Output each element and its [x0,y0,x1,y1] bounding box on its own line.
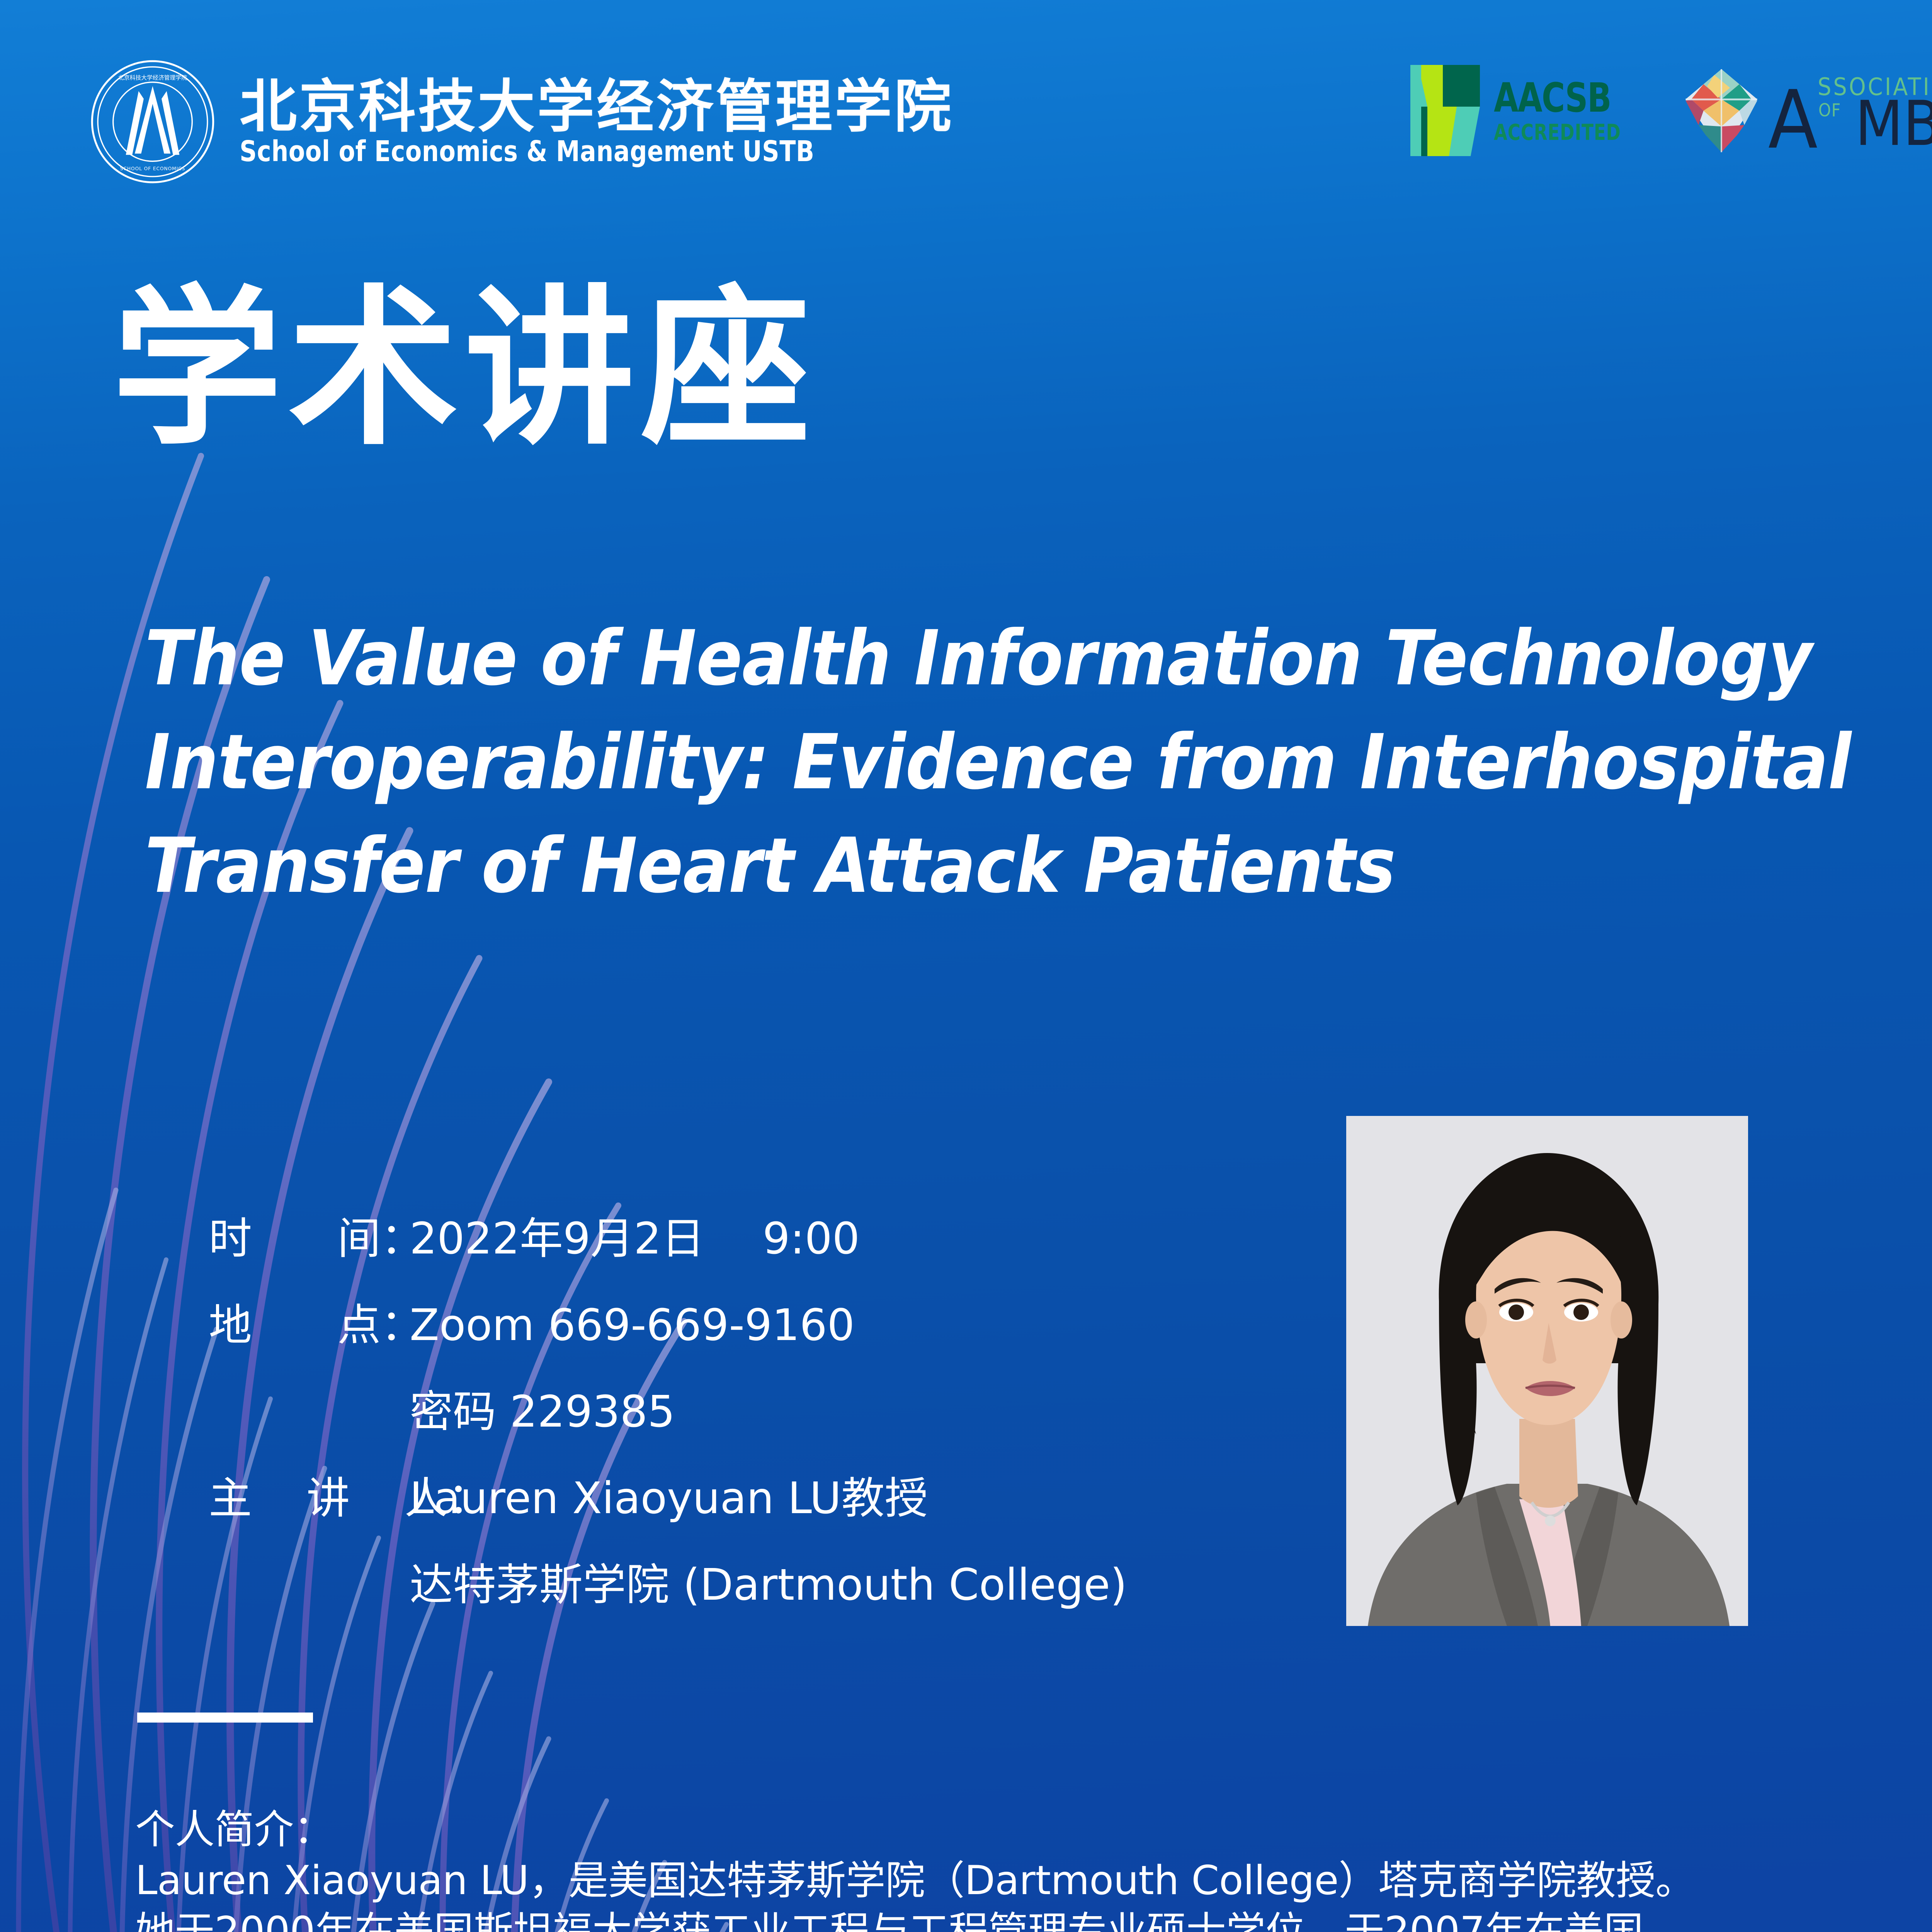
event-speaker-value: Lauren Xiaoyuan LU教授 [410,1477,928,1520]
section-divider [137,1713,313,1723]
bio-line: 她于2000年在美国斯坦福大学获工业工程与工程管理专业硕士学位，于2007年在美… [135,1906,1932,1932]
school-name-en: School of Economics & Management USTB [240,137,904,166]
event-affiliation-row: 达特茅斯学院 (Dartmouth College) [209,1563,1127,1607]
event-time-label-a: 时 [209,1214,252,1264]
amba-diamond-icon [1685,69,1758,152]
event-speaker-label-a: 主 [209,1473,252,1524]
speaker-portrait [1346,1116,1748,1626]
bio-line: Lauren Xiaoyuan LU，是美国达特茅斯学院（Dartmouth C… [135,1855,1932,1906]
amba-mba-text: MBA [1855,96,1932,151]
lecture-title-line-2: Interoperability: Evidence from Interhos… [145,711,1932,815]
event-place-value[interactable]: Zoom 669-669-9160 [410,1304,855,1347]
event-time-row: 时 间： 2022年9月2日 9:00 [209,1217,1127,1260]
event-place-row: 地 点： Zoom 669-669-9160 [209,1304,1127,1347]
amba-logo: A SSOCIATION OF MBA S [1685,69,1932,152]
event-passcode-value[interactable]: 密码 229385 [410,1390,675,1434]
aacsb-mark-icon [1410,65,1480,156]
event-time-value: 2022年9月2日 [410,1217,705,1260]
event-affiliation-value: 达特茅斯学院 (Dartmouth College) [410,1563,1127,1607]
event-speaker-row: 主 讲 人： Lauren Xiaoyuan LU教授 [209,1477,1127,1520]
lecture-title-line-1: The Value of Health Information Technolo… [145,607,1932,711]
page-title: 学术讲座 [112,284,817,454]
speaker-bio: 个人简介： Lauren Xiaoyuan LU，是美国达特茅斯学院（Dartm… [135,1804,1932,1932]
aacsb-label: AACSB [1494,78,1621,118]
event-time-clock: 9:00 [763,1217,860,1260]
event-place-label: 地 点： [209,1304,410,1347]
lecture-poster: 北京科技大学经济管理学院 SCHOOL OF ECONOMICS 北京科技大学经… [0,0,1932,1932]
lecture-title: The Value of Health Information Technolo… [145,607,1932,918]
ustb-seal-icon: 北京科技大学经济管理学院 SCHOOL OF ECONOMICS [89,58,216,185]
school-name-cn: 北京科技大学经济管理学院 [240,78,954,135]
amba-of-text: OF [1818,100,1841,121]
poster-header: 北京科技大学经济管理学院 SCHOOL OF ECONOMICS 北京科技大学经… [89,58,1932,197]
event-details: 时 间： 2022年9月2日 9:00 地 点： Zoom 669-669-91… [209,1217,1127,1607]
aacsb-accredited-label: ACCREDITED [1494,122,1621,144]
accreditation-logos: AACSB ACCREDITED [1410,65,1932,156]
school-logo-block: 北京科技大学经济管理学院 SCHOOL OF ECONOMICS 北京科技大学经… [89,58,954,185]
event-time-label: 时 间： [209,1217,410,1260]
svg-text:SCHOOL OF ECONOMICS: SCHOOL OF ECONOMICS [120,166,185,171]
svg-text:北京科技大学经济管理学院: 北京科技大学经济管理学院 [118,74,187,81]
event-place-label-a: 地 [209,1300,252,1350]
event-speaker-label: 主 讲 人： [209,1477,410,1520]
aacsb-logo: AACSB ACCREDITED [1410,65,1638,156]
lecture-title-line-3: Transfer of Heart Attack Patients [145,814,1932,918]
amba-letter-a: A [1768,89,1818,151]
event-speaker-label-b: 讲 [306,1473,350,1524]
event-passcode-row: 密码 229385 [209,1390,1127,1434]
speaker-photo [1346,1116,1748,1626]
bio-heading: 个人简介： [135,1804,1932,1855]
